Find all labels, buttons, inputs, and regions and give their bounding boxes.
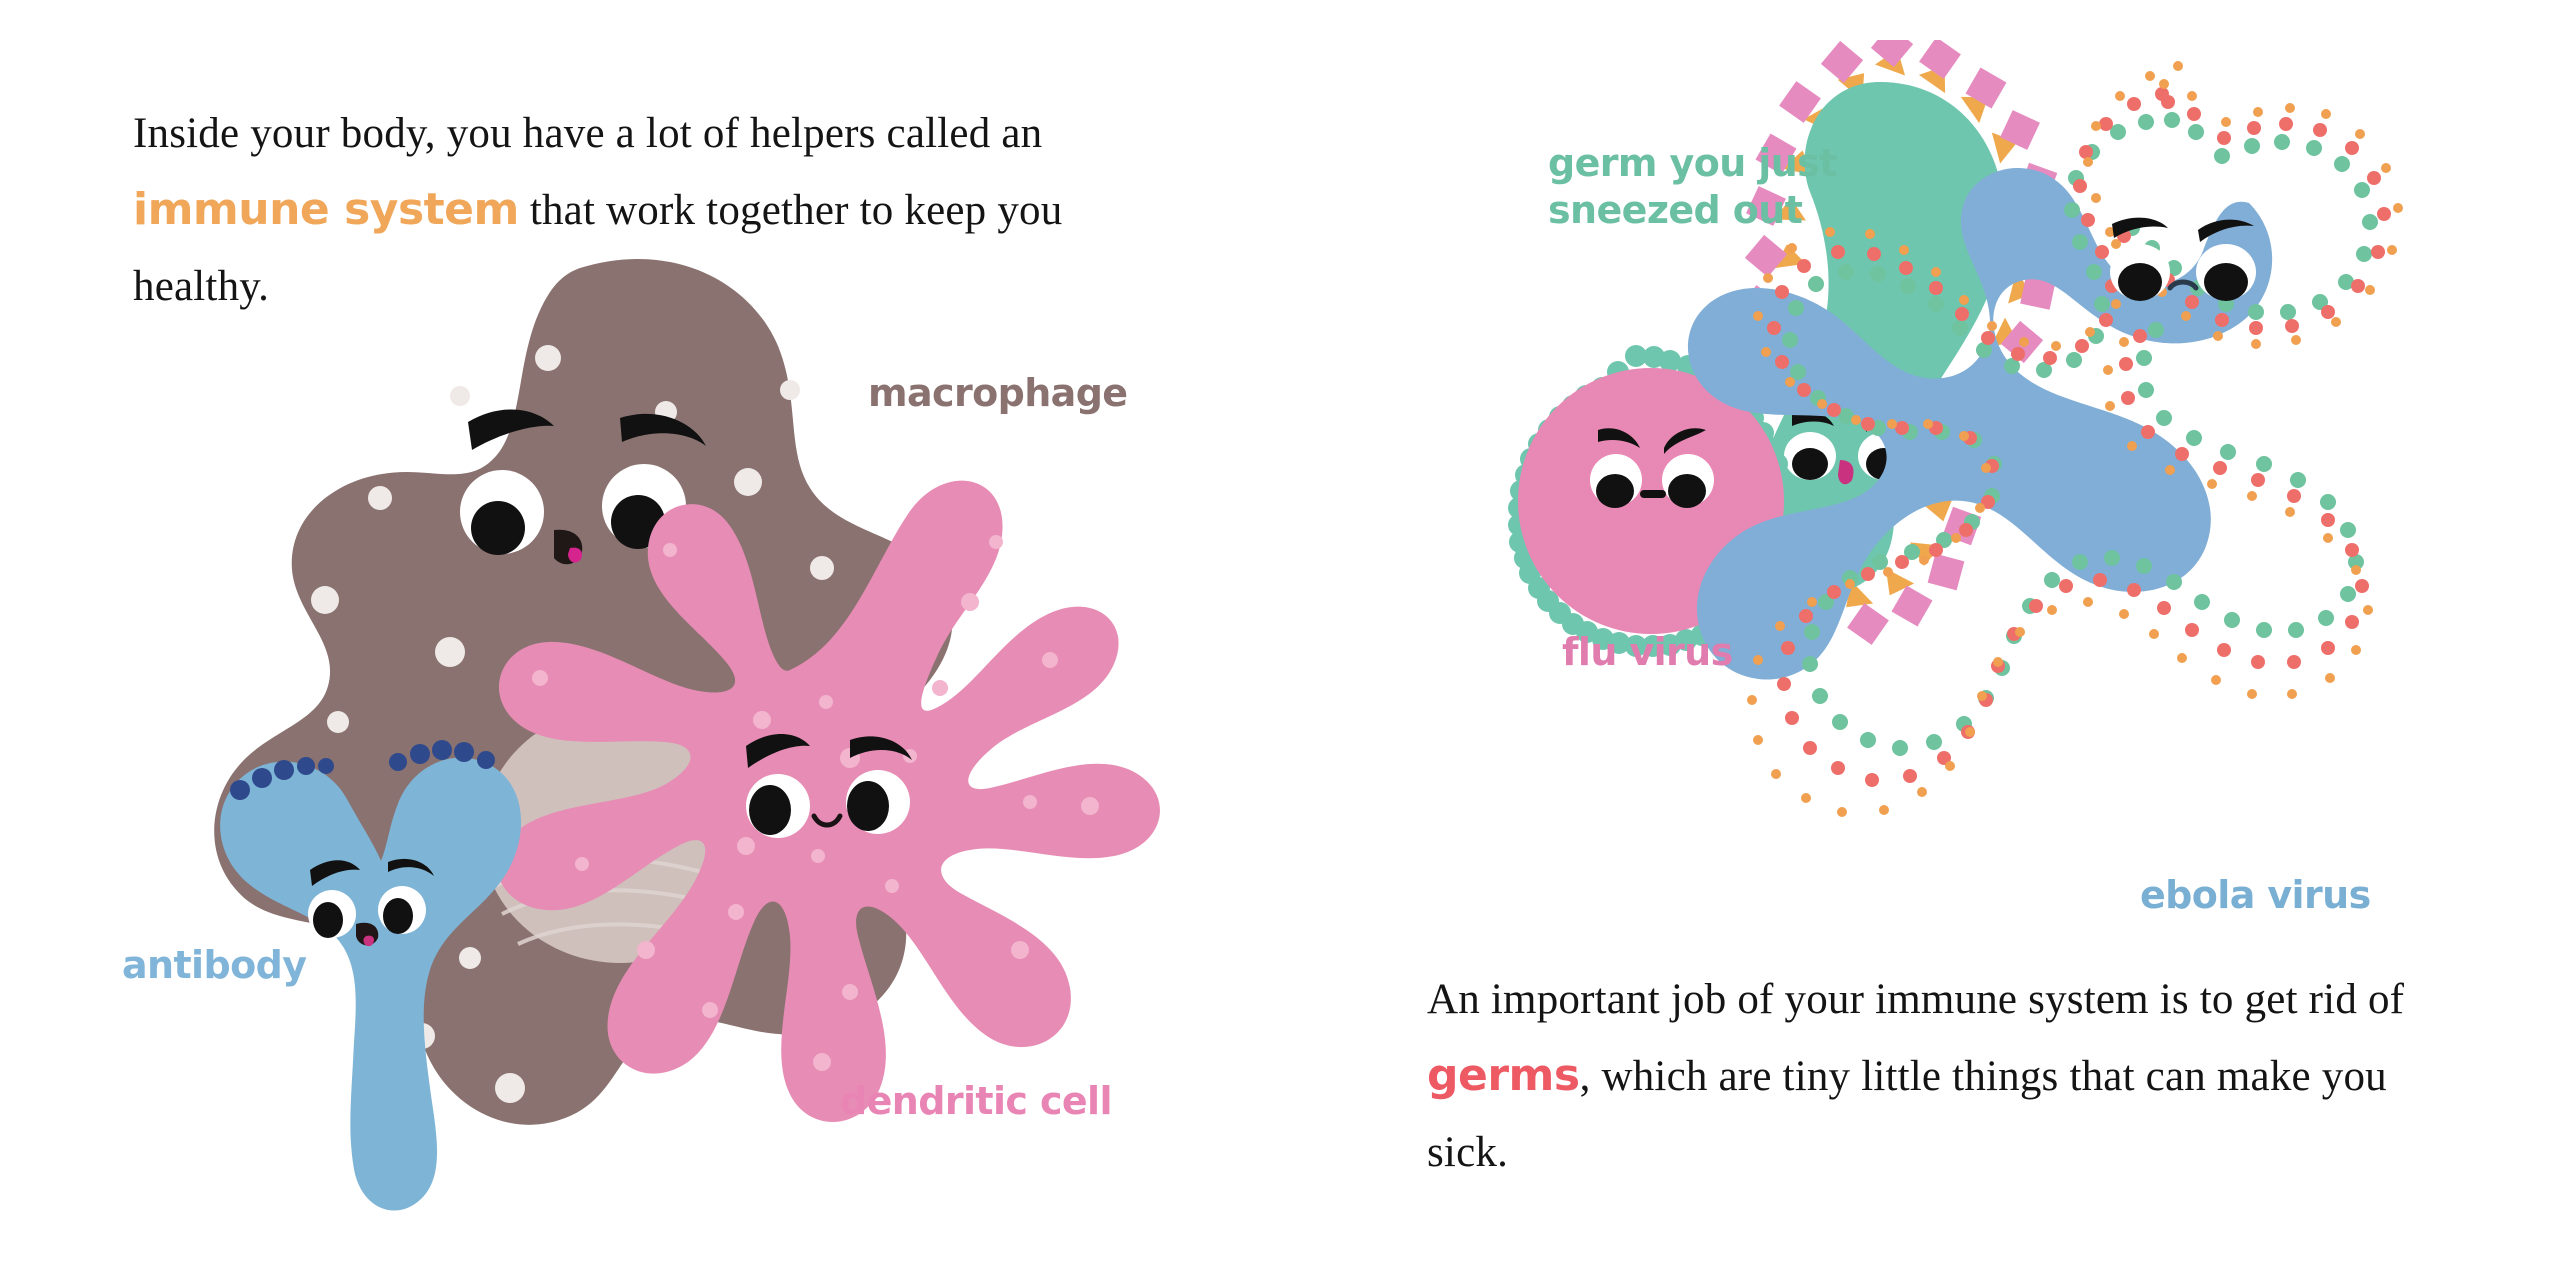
antibody-eye-left-pupil xyxy=(313,902,343,938)
germs-highlight: germs xyxy=(1427,1050,1580,1101)
dendritic-eye-right-pupil xyxy=(847,781,889,831)
label-antibody: antibody xyxy=(122,942,306,989)
label-ebola-virus: ebola virus xyxy=(2140,872,2371,919)
flu-eye-right-pupil xyxy=(1668,474,1706,508)
immune-system-highlight: immune system xyxy=(133,184,519,235)
left-paragraph-part1: Inside your body, you have a lot of help… xyxy=(133,110,1042,157)
antibody-eye-right-pupil xyxy=(383,898,413,934)
ebola-eye-right-pupil xyxy=(2204,263,2248,301)
macrophage-eye-left-pupil xyxy=(471,501,525,555)
dendritic-eye-left-pupil xyxy=(749,785,791,835)
right-paragraph: An important job of your immune system i… xyxy=(1427,962,2467,1191)
label-flu-virus: flu virus xyxy=(1562,629,1733,676)
label-macrophage: macrophage xyxy=(868,370,1127,417)
book-page-spread: Inside your body, you have a lot of help… xyxy=(0,0,2560,1280)
flu-eye-left-pupil xyxy=(1596,474,1634,508)
germ-eye-left-pupil xyxy=(1792,448,1828,480)
ebola-eye-left-pupil xyxy=(2118,263,2162,301)
flu-mouth xyxy=(1640,490,1666,498)
label-sneezed-germ: germ you just sneezed out xyxy=(1548,140,1837,234)
label-dendritic-cell: dendritic cell xyxy=(840,1078,1112,1125)
right-paragraph-part1: An important job of your immune system i… xyxy=(1427,976,2404,1023)
